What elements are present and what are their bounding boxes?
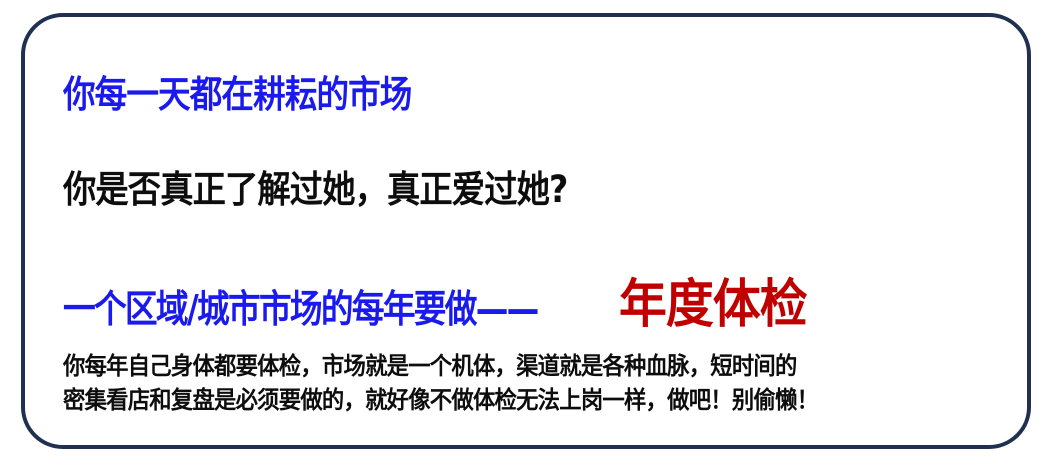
heading-line-2: 你是否真正了解过她，真正爱过她? bbox=[63, 169, 567, 210]
slide-content: 你每一天都在耕耘的市场 你是否真正了解过她，真正爱过她? 一个区域/城市市场的每… bbox=[63, 17, 1053, 445]
body-paragraph-line-1: 你每年自己身体都要体检，市场就是一个机体，渠道就是各种血脉，短时间的 bbox=[63, 349, 818, 383]
slide-canvas: 你每一天都在耕耘的市场 你是否真正了解过她，真正爱过她? 一个区域/城市市场的每… bbox=[0, 0, 1055, 467]
rounded-border-frame: 你每一天都在耕耘的市场 你是否真正了解过她，真正爱过她? 一个区域/城市市场的每… bbox=[21, 13, 1031, 449]
heading-line-1: 你每一天都在耕耘的市场 bbox=[63, 74, 411, 115]
heading-line-3-blue-text: 一个区域/城市市场的每年要做—— bbox=[63, 290, 538, 328]
body-paragraph: 你每年自己身体都要体检，市场就是一个机体，渠道就是各种血脉，短时间的 密集看店和… bbox=[63, 349, 818, 417]
body-paragraph-line-2: 密集看店和复盘是必须要做的，就好像不做体检无法上岗一样，做吧！别偷懒！ bbox=[63, 383, 818, 417]
heading-line-3: 一个区域/城市市场的每年要做—— 年度体检 bbox=[63, 279, 823, 331]
heading-line-3-red-text: 年度体检 bbox=[619, 279, 807, 331]
